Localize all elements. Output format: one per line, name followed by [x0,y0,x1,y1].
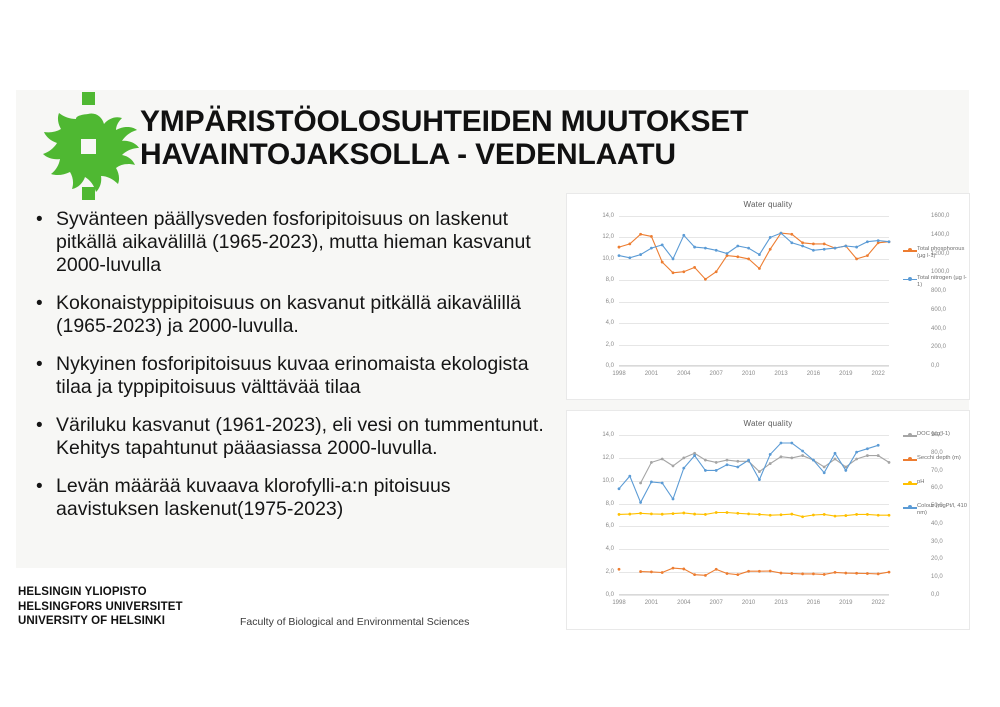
x-axis-tick: 2022 [872,600,885,606]
y-axis-tick-right: 0,0 [931,363,939,369]
series-marker [823,513,826,516]
series-marker [736,466,739,469]
y-axis-tick-left: 12,0 [602,234,614,240]
x-axis-tick: 2016 [807,371,820,377]
legend-marker-icon [903,432,917,439]
series-marker [693,513,696,516]
list-item: •Levän määrää kuvaava klorofylli-a:n pit… [36,475,546,521]
series-marker [661,244,664,247]
series-marker [769,453,772,456]
chart-water-quality-physical: Water quality 0,02,04,06,08,010,012,014,… [566,410,970,630]
legend-label: Colour (mgPt/l, 410 nm) [917,503,969,518]
series-marker [790,456,793,459]
faculty-label: Faculty of Biological and Environmental … [240,616,469,628]
series-marker [747,570,750,573]
bullet-text: Syvänteen päällysveden fosforipitoisuus … [56,208,546,277]
y-axis-tick-left: 14,0 [602,213,614,219]
series-marker [855,451,858,454]
bullet-text: Väriluku kasvanut (1961-2023), eli vesi … [56,414,546,460]
y-axis-tick-right: 400,0 [931,326,946,332]
x-axis-tick: 1998 [612,371,625,377]
series-marker [650,247,653,250]
bullet-text: Kokonaistyppipitoisuus on kasvanut pitkä… [56,292,546,338]
legend-label: Total nitrogen (µg l-1) [917,275,969,290]
series-line [619,513,889,517]
y-axis-tick-left: 2,0 [606,342,614,348]
series-marker [812,249,815,252]
series-marker [855,246,858,249]
series-marker [780,513,783,516]
brand-line-en: UNIVERSITY OF HELSINKI [18,614,183,629]
legend-marker-icon [903,456,917,463]
list-item: •Syvänteen päällysveden fosforipitoisuus… [36,208,546,277]
series-marker [844,514,847,517]
list-item: •Väriluku kasvanut (1961-2023), eli vesi… [36,414,546,460]
x-axis-tick: 2016 [807,600,820,606]
y-axis-tick-right: 1600,0 [931,213,949,219]
series-marker [661,458,664,461]
series-marker [844,469,847,472]
y-axis-tick-left: 2,0 [606,569,614,575]
series-marker [661,513,664,516]
legend-item[interactable]: Secchi depth (m) [903,455,969,463]
series-marker [758,267,761,270]
series-marker [855,458,858,461]
y-axis-tick-left: 6,0 [606,523,614,529]
series-marker [726,463,729,466]
series-marker [780,232,783,235]
series-marker [790,233,793,236]
series-marker [726,459,729,462]
series-marker [693,454,696,457]
series-marker [682,512,685,515]
series-marker [650,571,653,574]
series-marker [823,248,826,251]
series-marker [758,253,761,256]
series-marker [888,240,891,243]
series-marker [672,464,675,467]
y-axis-tick-left: 4,0 [606,546,614,552]
series-marker [715,249,718,252]
series-marker [758,478,761,481]
y-axis-tick-right: 0,0 [931,592,939,598]
series-marker [736,460,739,463]
series-marker [650,461,653,464]
series-marker [736,255,739,258]
series-marker [639,482,642,485]
series-marker [715,461,718,464]
bullet-marker-icon: • [36,292,56,338]
series-marker [877,454,880,457]
series-marker [682,234,685,237]
brand-line-fi: HELSINGIN YLIOPISTO [18,585,183,600]
series-marker [834,458,837,461]
series-marker [801,241,804,244]
series-marker [715,270,718,273]
series-marker [834,515,837,518]
series-marker [736,245,739,248]
series-marker [780,442,783,445]
series-marker [628,513,631,516]
legend-item[interactable]: Total nitrogen (µg l-1) [903,275,969,290]
series-marker [855,257,858,260]
series-marker [628,242,631,245]
legend-marker-icon [903,480,917,487]
series-marker [747,247,750,250]
chart2-legend: DOC (µg l-1)Secchi depth (m)pHColour (mg… [903,431,969,534]
x-axis-tick: 2019 [839,371,852,377]
bullet-marker-icon: • [36,414,56,460]
title-line-2: HAVAINTOJAKSOLLA - VEDENLAATU [140,138,930,171]
x-axis-tick: 2001 [645,371,658,377]
series-marker [790,572,793,575]
legend-marker-icon [903,247,917,254]
series-marker [855,513,858,516]
series-marker [877,514,880,517]
series-marker [747,512,750,515]
x-axis-tick: 2010 [742,371,755,377]
x-axis-tick: 2001 [645,600,658,606]
x-axis-tick: 1998 [612,600,625,606]
y-axis-tick-left: 8,0 [606,277,614,283]
series-marker [866,572,869,575]
series-marker [726,511,729,514]
series-marker [672,257,675,260]
bullet-text: Levän määrää kuvaava klorofylli-a:n pito… [56,475,546,521]
gridline [619,366,889,367]
series-marker [639,233,642,236]
list-item: •Kokonaistyppipitoisuus on kasvanut pitk… [36,292,546,338]
series-marker [844,572,847,575]
series-marker [855,572,858,575]
y-axis-tick-left: 4,0 [606,320,614,326]
series-marker [704,247,707,250]
legend-label: pH [917,479,969,486]
university-of-helsinki-flame-logo [42,92,142,200]
x-axis-tick: 2010 [742,600,755,606]
series-marker [715,568,718,571]
chart1-title: Water quality [567,200,969,209]
series-marker [672,498,675,501]
series-marker [704,469,707,472]
x-axis-tick: 2007 [710,600,723,606]
series-marker [790,241,793,244]
series-marker [693,246,696,249]
series-line [619,443,878,502]
series-marker [661,261,664,264]
series-marker [823,573,826,576]
x-axis-tick: 2007 [710,371,723,377]
series-marker [780,572,783,575]
series-marker [672,512,675,515]
series-marker [769,514,772,517]
series-marker [769,236,772,239]
series-marker [758,470,761,473]
series-marker [888,571,891,574]
y-axis-tick-right: 10,0 [931,574,943,580]
series-marker [661,571,664,574]
series-marker [618,487,621,490]
series-marker [866,447,869,450]
y-axis-tick-left: 12,0 [602,455,614,461]
series-marker [650,480,653,483]
series-marker [618,568,621,571]
series-marker [769,570,772,573]
legend-marker-icon [903,504,917,511]
chart1-plot-area: 0,02,04,06,08,010,012,014,00,0200,0400,0… [619,216,889,366]
series-marker [877,239,880,242]
series-marker [888,461,891,464]
series-marker [877,572,880,575]
series-marker [812,242,815,245]
y-axis-tick-right: 20,0 [931,556,943,562]
y-axis-tick-left: 10,0 [602,478,614,484]
y-axis-tick-right: 1400,0 [931,232,949,238]
y-axis-tick-left: 8,0 [606,501,614,507]
legend-label: Total phosphorous (µg l-1) [917,246,969,261]
series-marker [877,444,880,447]
series-marker [747,257,750,260]
series-marker [639,570,642,573]
y-axis-tick-right: 200,0 [931,344,946,350]
series-marker [812,459,815,462]
series-marker [704,459,707,462]
series-marker [650,512,653,515]
series-marker [758,513,761,516]
series-marker [758,570,761,573]
series-marker [672,271,675,274]
bullet-text: Nykyinen fosforipitoisuus kuvaa erinomai… [56,353,546,399]
series-marker [769,462,772,465]
y-axis-tick-right: 30,0 [931,539,943,545]
x-axis-tick: 2004 [677,600,690,606]
y-axis-tick-left: 0,0 [606,592,614,598]
series-marker [866,454,869,457]
series-marker [618,246,621,249]
chart-series-layer [619,435,889,595]
bullet-marker-icon: • [36,353,56,399]
series-marker [704,574,707,577]
series-marker [823,242,826,245]
chart1-legend: Total phosphorous (µg l-1)Total nitrogen… [903,246,969,304]
slide-canvas: YMPÄRISTÖOLOSUHTEIDEN MUUTOKSET HAVAINTO… [0,0,1000,707]
series-marker [704,278,707,281]
series-marker [682,456,685,459]
series-marker [866,254,869,257]
series-marker [823,471,826,474]
x-axis-tick: 2013 [774,371,787,377]
legend-item[interactable]: Total phosphorous (µg l-1) [903,246,969,261]
series-marker [812,572,815,575]
series-marker [682,467,685,470]
series-marker [834,452,837,455]
y-axis-tick-left: 10,0 [602,256,614,262]
series-marker [801,515,804,518]
series-marker [888,514,891,517]
y-axis-tick-left: 6,0 [606,299,614,305]
series-marker [780,455,783,458]
series-line [619,233,889,279]
series-marker [618,513,621,516]
chart-series-layer [619,216,889,366]
legend-label: DOC (µg l-1) [917,431,969,438]
series-marker [704,513,707,516]
series-marker [628,256,631,259]
series-marker [834,571,837,574]
y-axis-tick-left: 14,0 [602,432,614,438]
chart2-title: Water quality [567,419,969,428]
series-marker [693,266,696,269]
series-marker [812,514,815,517]
series-marker [650,235,653,238]
series-marker [790,513,793,516]
series-marker [682,568,685,571]
brand-block: HELSINGIN YLIOPISTO HELSINGFORS UNIVERSI… [18,585,183,629]
series-marker [672,567,675,570]
chart2-plot-area: 0,02,04,06,08,010,012,014,00,010,020,030… [619,435,889,595]
list-item: •Nykyinen fosforipitoisuus kuvaa erinoma… [36,353,546,399]
series-marker [823,466,826,469]
series-marker [801,454,804,457]
series-marker [661,482,664,485]
bullet-marker-icon: • [36,475,56,521]
series-marker [834,247,837,250]
series-marker [736,512,739,515]
title-line-1: YMPÄRISTÖOLOSUHTEIDEN MUUTOKSET [140,105,930,138]
series-marker [618,254,621,257]
x-axis-tick: 2022 [872,371,885,377]
legend-item[interactable]: DOC (µg l-1) [903,431,969,439]
y-axis-tick-left: 0,0 [606,363,614,369]
legend-item[interactable]: pH [903,479,969,487]
legend-item[interactable]: Colour (mgPt/l, 410 nm) [903,503,969,518]
series-marker [726,252,729,255]
legend-marker-icon [903,276,917,283]
y-axis-tick-right: 600,0 [931,307,946,313]
chart-water-quality-nutrients: Water quality 0,02,04,06,08,010,012,014,… [566,193,970,400]
series-marker [844,245,847,248]
x-axis-tick: 2019 [839,600,852,606]
series-marker [639,512,642,515]
bullet-marker-icon: • [36,208,56,277]
gridline [619,595,889,596]
series-marker [769,248,772,251]
series-marker [801,572,804,575]
brand-line-sv: HELSINGFORS UNIVERSITET [18,600,183,615]
series-marker [693,573,696,576]
series-marker [628,475,631,478]
series-marker [866,513,869,516]
series-marker [639,501,642,504]
series-marker [726,572,729,575]
series-marker [682,270,685,273]
series-marker [639,253,642,256]
series-marker [866,240,869,243]
series-marker [715,511,718,514]
series-marker [801,245,804,248]
series-marker [801,450,804,453]
page-title: YMPÄRISTÖOLOSUHTEIDEN MUUTOKSET HAVAINTO… [140,105,930,171]
x-axis-tick: 2013 [774,600,787,606]
series-line [641,568,889,575]
legend-label: Secchi depth (m) [917,455,969,462]
series-marker [790,442,793,445]
series-marker [715,469,718,472]
x-axis-tick: 2004 [677,371,690,377]
series-marker [736,573,739,576]
bullet-list: •Syvänteen päällysveden fosforipitoisuus… [36,208,546,536]
series-marker [747,459,750,462]
